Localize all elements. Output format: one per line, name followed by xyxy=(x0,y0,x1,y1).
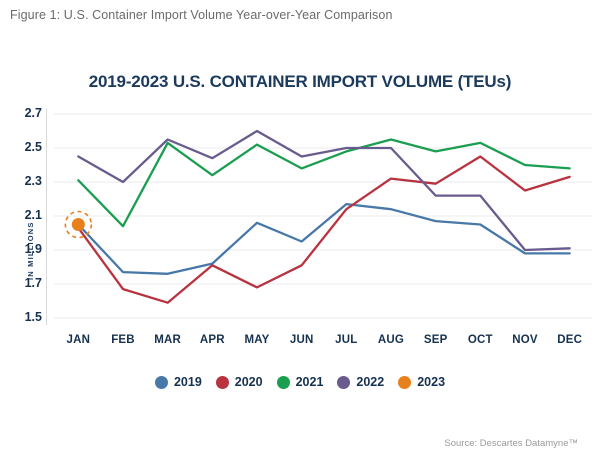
legend-swatch-icon xyxy=(277,376,290,389)
x-axis-tick-label: NOV xyxy=(501,334,549,346)
legend-item-2023[interactable]: 2023 xyxy=(398,375,445,389)
data-point-2023-jan[interactable] xyxy=(72,218,85,231)
legend-label: 2019 xyxy=(174,375,202,389)
x-axis-tick-label: OCT xyxy=(456,334,504,346)
x-axis-tick-label: MAR xyxy=(144,334,192,346)
legend-swatch-icon xyxy=(216,376,229,389)
legend-label: 2021 xyxy=(296,375,324,389)
legend-label: 2020 xyxy=(235,375,263,389)
chart-svg xyxy=(0,105,600,395)
x-axis-tick-label: APR xyxy=(188,334,236,346)
x-axis-tick-label: DEC xyxy=(546,334,594,346)
legend-swatch-icon xyxy=(398,376,411,389)
x-axis-tick-label: MAY xyxy=(233,334,281,346)
source-note: Source: Descartes Datamyne™ xyxy=(444,438,578,449)
legend-item-2019[interactable]: 2019 xyxy=(155,375,202,389)
legend-swatch-icon xyxy=(155,376,168,389)
x-axis-tick-label: FEB xyxy=(99,334,147,346)
legend-swatch-icon xyxy=(337,376,350,389)
legend-item-2021[interactable]: 2021 xyxy=(277,375,324,389)
chart-legend: 20192020202120222023 xyxy=(0,375,600,389)
x-axis-tick-label: JAN xyxy=(54,334,102,346)
legend-item-2022[interactable]: 2022 xyxy=(337,375,384,389)
series-line-2022 xyxy=(78,131,569,250)
legend-item-2020[interactable]: 2020 xyxy=(216,375,263,389)
plot-area: IN MILLIONS 2.72.52.32.11.91.71.5 JANFEB… xyxy=(0,105,600,395)
legend-label: 2022 xyxy=(356,375,384,389)
x-axis-tick-label: SEP xyxy=(412,334,460,346)
chart-title: 2019-2023 U.S. CONTAINER IMPORT VOLUME (… xyxy=(0,72,600,92)
series-line-2020 xyxy=(78,157,569,303)
x-axis-tick-label: AUG xyxy=(367,334,415,346)
x-axis-tick-label: JUN xyxy=(278,334,326,346)
chart-container: 2019-2023 U.S. CONTAINER IMPORT VOLUME (… xyxy=(0,50,600,430)
legend-label: 2023 xyxy=(417,375,445,389)
figure-caption: Figure 1: U.S. Container Import Volume Y… xyxy=(10,8,393,22)
x-axis-tick-label: JUL xyxy=(322,334,370,346)
